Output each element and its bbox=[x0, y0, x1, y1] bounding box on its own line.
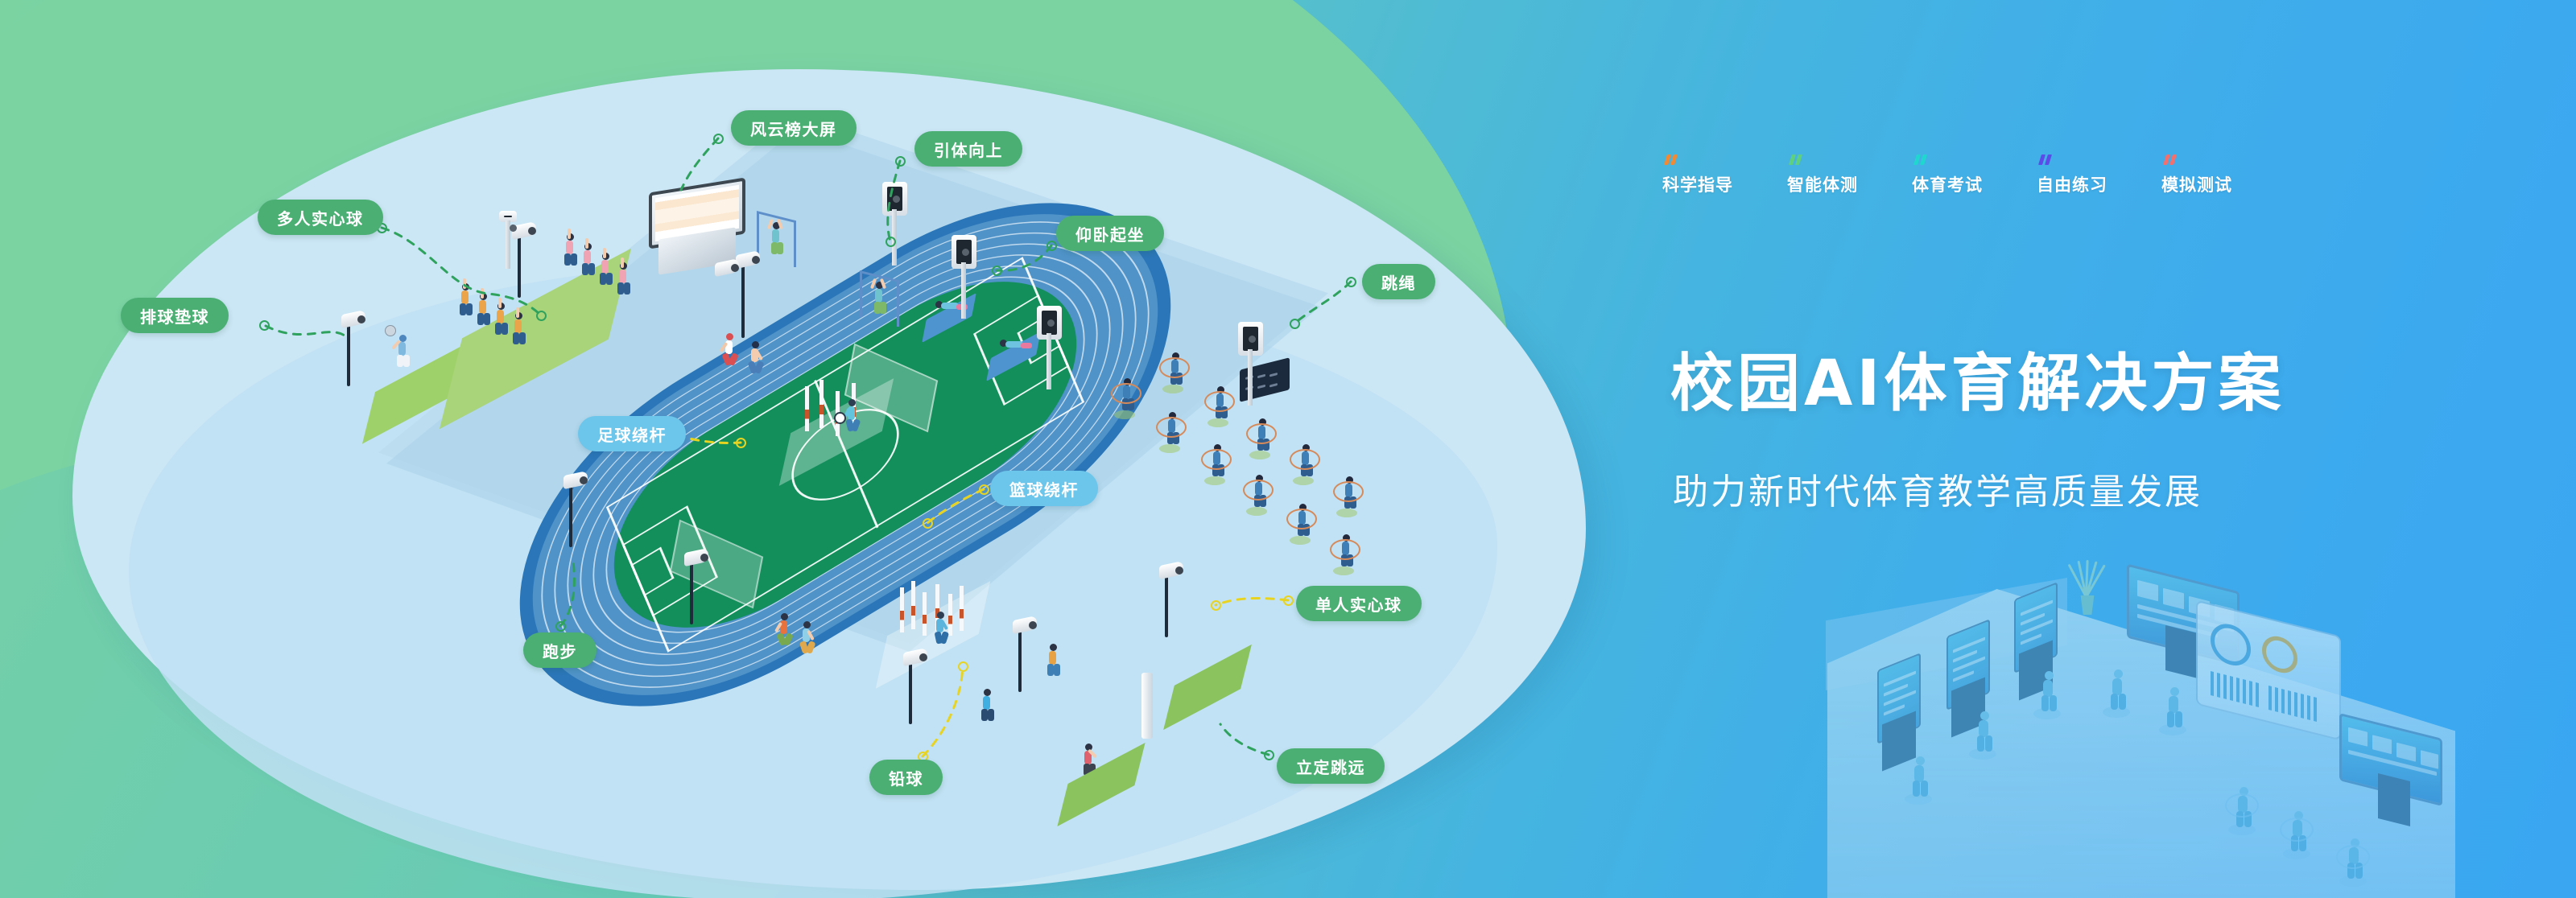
connector-node bbox=[1346, 277, 1356, 287]
nav-accent-icon bbox=[1790, 154, 1801, 165]
connector-node bbox=[895, 156, 906, 167]
connector-node bbox=[1264, 750, 1274, 760]
nav-item-1[interactable]: 智能体测 bbox=[1787, 154, 1912, 196]
page-subtitle: 助力新时代体育教学高质量发展 bbox=[1673, 463, 2202, 514]
nav-item-4[interactable]: 模拟测试 bbox=[2161, 154, 2286, 196]
nav-accent-icon bbox=[2165, 154, 2175, 165]
gym-wall-display bbox=[2339, 726, 2442, 793]
connector-node bbox=[1290, 319, 1300, 329]
feature-label-pill[interactable]: 单人实心球 bbox=[1296, 586, 1422, 621]
connector-node bbox=[555, 621, 566, 632]
connector-node bbox=[1046, 241, 1057, 251]
potted-plant bbox=[2067, 555, 2107, 615]
feature-label-pill[interactable]: 风云榜大屏 bbox=[731, 110, 857, 146]
indoor-gym-illustration bbox=[1860, 541, 2576, 898]
hero-banner: 排球垫球多人实心球风云榜大屏引体向上仰卧起坐跳绳足球绕杆篮球绕杆跑步铅球单人实心… bbox=[0, 0, 2576, 898]
nav-label: 科学指导 bbox=[1662, 172, 1733, 196]
nav-accent-icon bbox=[2040, 154, 2050, 165]
soccer-ball bbox=[834, 412, 846, 424]
connector-node bbox=[1211, 600, 1221, 611]
feature-label-pill[interactable]: 排球垫球 bbox=[121, 298, 229, 333]
feature-label-pill[interactable]: 铅球 bbox=[869, 760, 943, 795]
nav-label: 自由练习 bbox=[2037, 172, 2107, 196]
feature-label-pill[interactable]: 立定跳远 bbox=[1277, 748, 1385, 784]
nav-accent-icon bbox=[1666, 154, 1676, 165]
feature-label-pill[interactable]: 引体向上 bbox=[914, 131, 1022, 167]
feature-label-pill[interactable]: 多人实心球 bbox=[258, 200, 383, 235]
feature-label-pill[interactable]: 跑步 bbox=[523, 632, 597, 668]
connector-node bbox=[958, 661, 968, 672]
connector-node bbox=[259, 320, 270, 331]
connector-node bbox=[923, 518, 933, 529]
connector-node bbox=[979, 484, 989, 495]
volleyball bbox=[385, 325, 396, 336]
nav-item-2[interactable]: 体育考试 bbox=[1912, 154, 2037, 196]
page-title: 校园AI体育解决方案 bbox=[1670, 352, 2285, 418]
feature-label-pill[interactable]: 足球绕杆 bbox=[578, 416, 686, 451]
feature-label-pill[interactable]: 篮球绕杆 bbox=[990, 471, 1098, 506]
gym-kiosk bbox=[1877, 661, 1921, 764]
connector-node bbox=[713, 134, 724, 144]
nav-label: 智能体测 bbox=[1787, 172, 1858, 196]
nav-accent-icon bbox=[1915, 154, 1926, 165]
leaderboard-display-kiosk bbox=[649, 185, 745, 269]
connector-node bbox=[1283, 595, 1294, 606]
nav-label: 体育考试 bbox=[1912, 172, 1983, 196]
nav-label: 模拟测试 bbox=[2161, 172, 2232, 196]
connector-node bbox=[736, 438, 746, 448]
nav-item-0[interactable]: 科学指导 bbox=[1662, 154, 1787, 196]
feature-label-pill[interactable]: 仰卧起坐 bbox=[1056, 216, 1164, 251]
feature-nav: 科学指导 智能体测 体育考试 自由练习 模拟测试 bbox=[1662, 154, 2286, 196]
connector-node bbox=[992, 266, 1002, 276]
connector-node bbox=[536, 311, 547, 321]
longjump-post bbox=[1141, 673, 1153, 739]
nav-item-3[interactable]: 自由练习 bbox=[2037, 154, 2161, 196]
connector-node bbox=[885, 237, 896, 247]
feature-label-pill[interactable]: 跳绳 bbox=[1362, 264, 1435, 299]
